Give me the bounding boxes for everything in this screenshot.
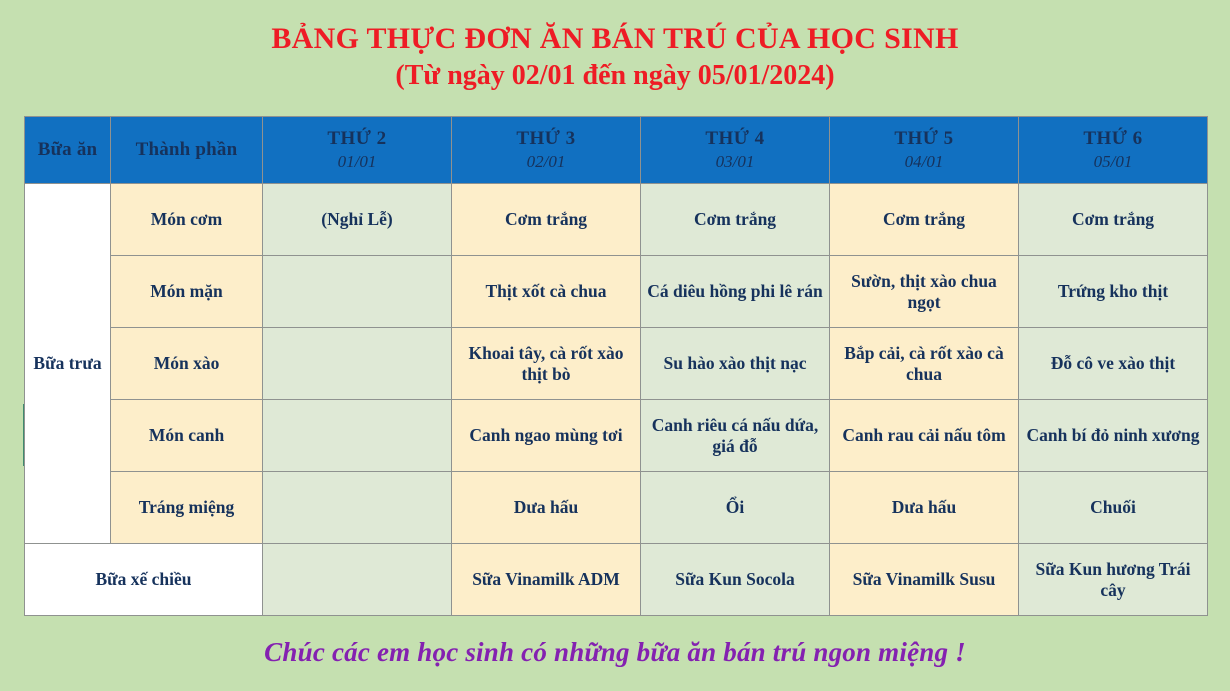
header-day-5-name: THỨ 6 — [1023, 128, 1203, 150]
header-day-1-name: THỨ 2 — [267, 128, 447, 150]
cell-r2-c0 — [263, 328, 452, 400]
table-row: Món mặn Thịt xốt cà chua Cá diêu hồng ph… — [25, 256, 1208, 328]
cell-r3-c2: Canh riêu cá nấu dứa, giá đỗ — [641, 400, 830, 472]
header-day-3-date: 03/01 — [645, 152, 825, 172]
component-label-0: Món cơm — [111, 184, 263, 256]
cell-snack-c4: Sữa Kun hương Trái cây — [1019, 544, 1208, 616]
component-label-3: Món canh — [111, 400, 263, 472]
cell-r2-c4: Đỗ cô ve xào thịt — [1019, 328, 1208, 400]
cell-r3-c0 — [263, 400, 452, 472]
cell-r1-c3: Sườn, thịt xào chua ngọt — [830, 256, 1019, 328]
page-title: BẢNG THỰC ĐƠN ĂN BÁN TRÚ CỦA HỌC SINH (T… — [0, 0, 1230, 92]
cell-r4-c0 — [263, 472, 452, 544]
cell-r3-c4: Canh bí đỏ ninh xương — [1019, 400, 1208, 472]
cell-r1-c4: Trứng kho thịt — [1019, 256, 1208, 328]
header-day-4-name: THỨ 5 — [834, 128, 1014, 150]
cell-r0-c4: Cơm trắng — [1019, 184, 1208, 256]
header-day-1: THỨ 2 01/01 — [263, 117, 452, 184]
snack-meal-label: Bữa xế chiều — [25, 544, 263, 616]
menu-board-page: BẢNG THỰC ĐƠN ĂN BÁN TRÚ CỦA HỌC SINH (T… — [0, 0, 1230, 691]
header-day-4-date: 04/01 — [834, 152, 1014, 172]
table-row: Món canh Canh ngao mùng tơi Canh riêu cá… — [25, 400, 1208, 472]
cell-r4-c4: Chuối — [1019, 472, 1208, 544]
cell-r4-c2: Ổi — [641, 472, 830, 544]
header-day-5: THỨ 6 05/01 — [1019, 117, 1208, 184]
header-day-5-date: 05/01 — [1023, 152, 1203, 172]
lunch-meal-label: Bữa trưa — [25, 184, 111, 544]
footer-message: Chúc các em học sinh có những bữa ăn bán… — [264, 637, 966, 667]
component-label-4: Tráng miệng — [111, 472, 263, 544]
header-day-2-name: THỨ 3 — [456, 128, 636, 150]
cell-r1-c1: Thịt xốt cà chua — [452, 256, 641, 328]
cell-r2-c3: Bắp cải, cà rốt xào cà chua — [830, 328, 1019, 400]
menu-table-wrapper: Bữa ăn Thành phần THỨ 2 01/01 THỨ 3 02/0… — [24, 116, 1208, 616]
cell-r2-c1: Khoai tây, cà rốt xào thịt bò — [452, 328, 641, 400]
cell-r3-c1: Canh ngao mùng tơi — [452, 400, 641, 472]
table-row: Món xào Khoai tây, cà rốt xào thịt bò Su… — [25, 328, 1208, 400]
table-row: Bữa xế chiều Sữa Vinamilk ADM Sữa Kun So… — [25, 544, 1208, 616]
cell-r4-c1: Dưa hấu — [452, 472, 641, 544]
header-day-3-name: THỨ 4 — [645, 128, 825, 150]
cell-r0-c1: Cơm trắng — [452, 184, 641, 256]
header-day-3: THỨ 4 03/01 — [641, 117, 830, 184]
header-day-1-date: 01/01 — [267, 152, 447, 172]
cell-r0-c3: Cơm trắng — [830, 184, 1019, 256]
cell-r4-c3: Dưa hấu — [830, 472, 1019, 544]
cell-snack-c0 — [263, 544, 452, 616]
cell-r1-c2: Cá diêu hồng phi lê rán — [641, 256, 830, 328]
table-header-row: Bữa ăn Thành phần THỨ 2 01/01 THỨ 3 02/0… — [25, 117, 1208, 184]
title-main: BẢNG THỰC ĐƠN ĂN BÁN TRÚ CỦA HỌC SINH — [0, 22, 1230, 57]
cell-r0-c0: (Nghỉ Lễ) — [263, 184, 452, 256]
header-day-2-date: 02/01 — [456, 152, 636, 172]
cell-r0-c2: Cơm trắng — [641, 184, 830, 256]
footer: Chúc các em học sinh có những bữa ăn bán… — [0, 637, 1230, 668]
component-label-2: Món xào — [111, 328, 263, 400]
cell-snack-c2: Sữa Kun Socola — [641, 544, 830, 616]
table-row: Tráng miệng Dưa hấu Ổi Dưa hấu Chuối — [25, 472, 1208, 544]
table-body: Bữa trưa Món cơm (Nghỉ Lễ) Cơm trắng Cơm… — [25, 184, 1208, 616]
table-row: Bữa trưa Món cơm (Nghỉ Lễ) Cơm trắng Cơm… — [25, 184, 1208, 256]
component-label-1: Món mặn — [111, 256, 263, 328]
cell-snack-c1: Sữa Vinamilk ADM — [452, 544, 641, 616]
cell-r1-c0 — [263, 256, 452, 328]
table-header: Bữa ăn Thành phần THỨ 2 01/01 THỨ 3 02/0… — [25, 117, 1208, 184]
title-daterange: (Từ ngày 02/01 đến ngày 05/01/2024) — [0, 59, 1230, 93]
cell-r2-c2: Su hào xào thịt nạc — [641, 328, 830, 400]
header-day-2: THỨ 3 02/01 — [452, 117, 641, 184]
header-component-column: Thành phần — [111, 117, 263, 184]
cell-snack-c3: Sữa Vinamilk Susu — [830, 544, 1019, 616]
header-meal-column: Bữa ăn — [25, 117, 111, 184]
menu-table: Bữa ăn Thành phần THỨ 2 01/01 THỨ 3 02/0… — [24, 116, 1208, 616]
cell-r3-c3: Canh rau cải nấu tôm — [830, 400, 1019, 472]
header-day-4: THỨ 5 04/01 — [830, 117, 1019, 184]
